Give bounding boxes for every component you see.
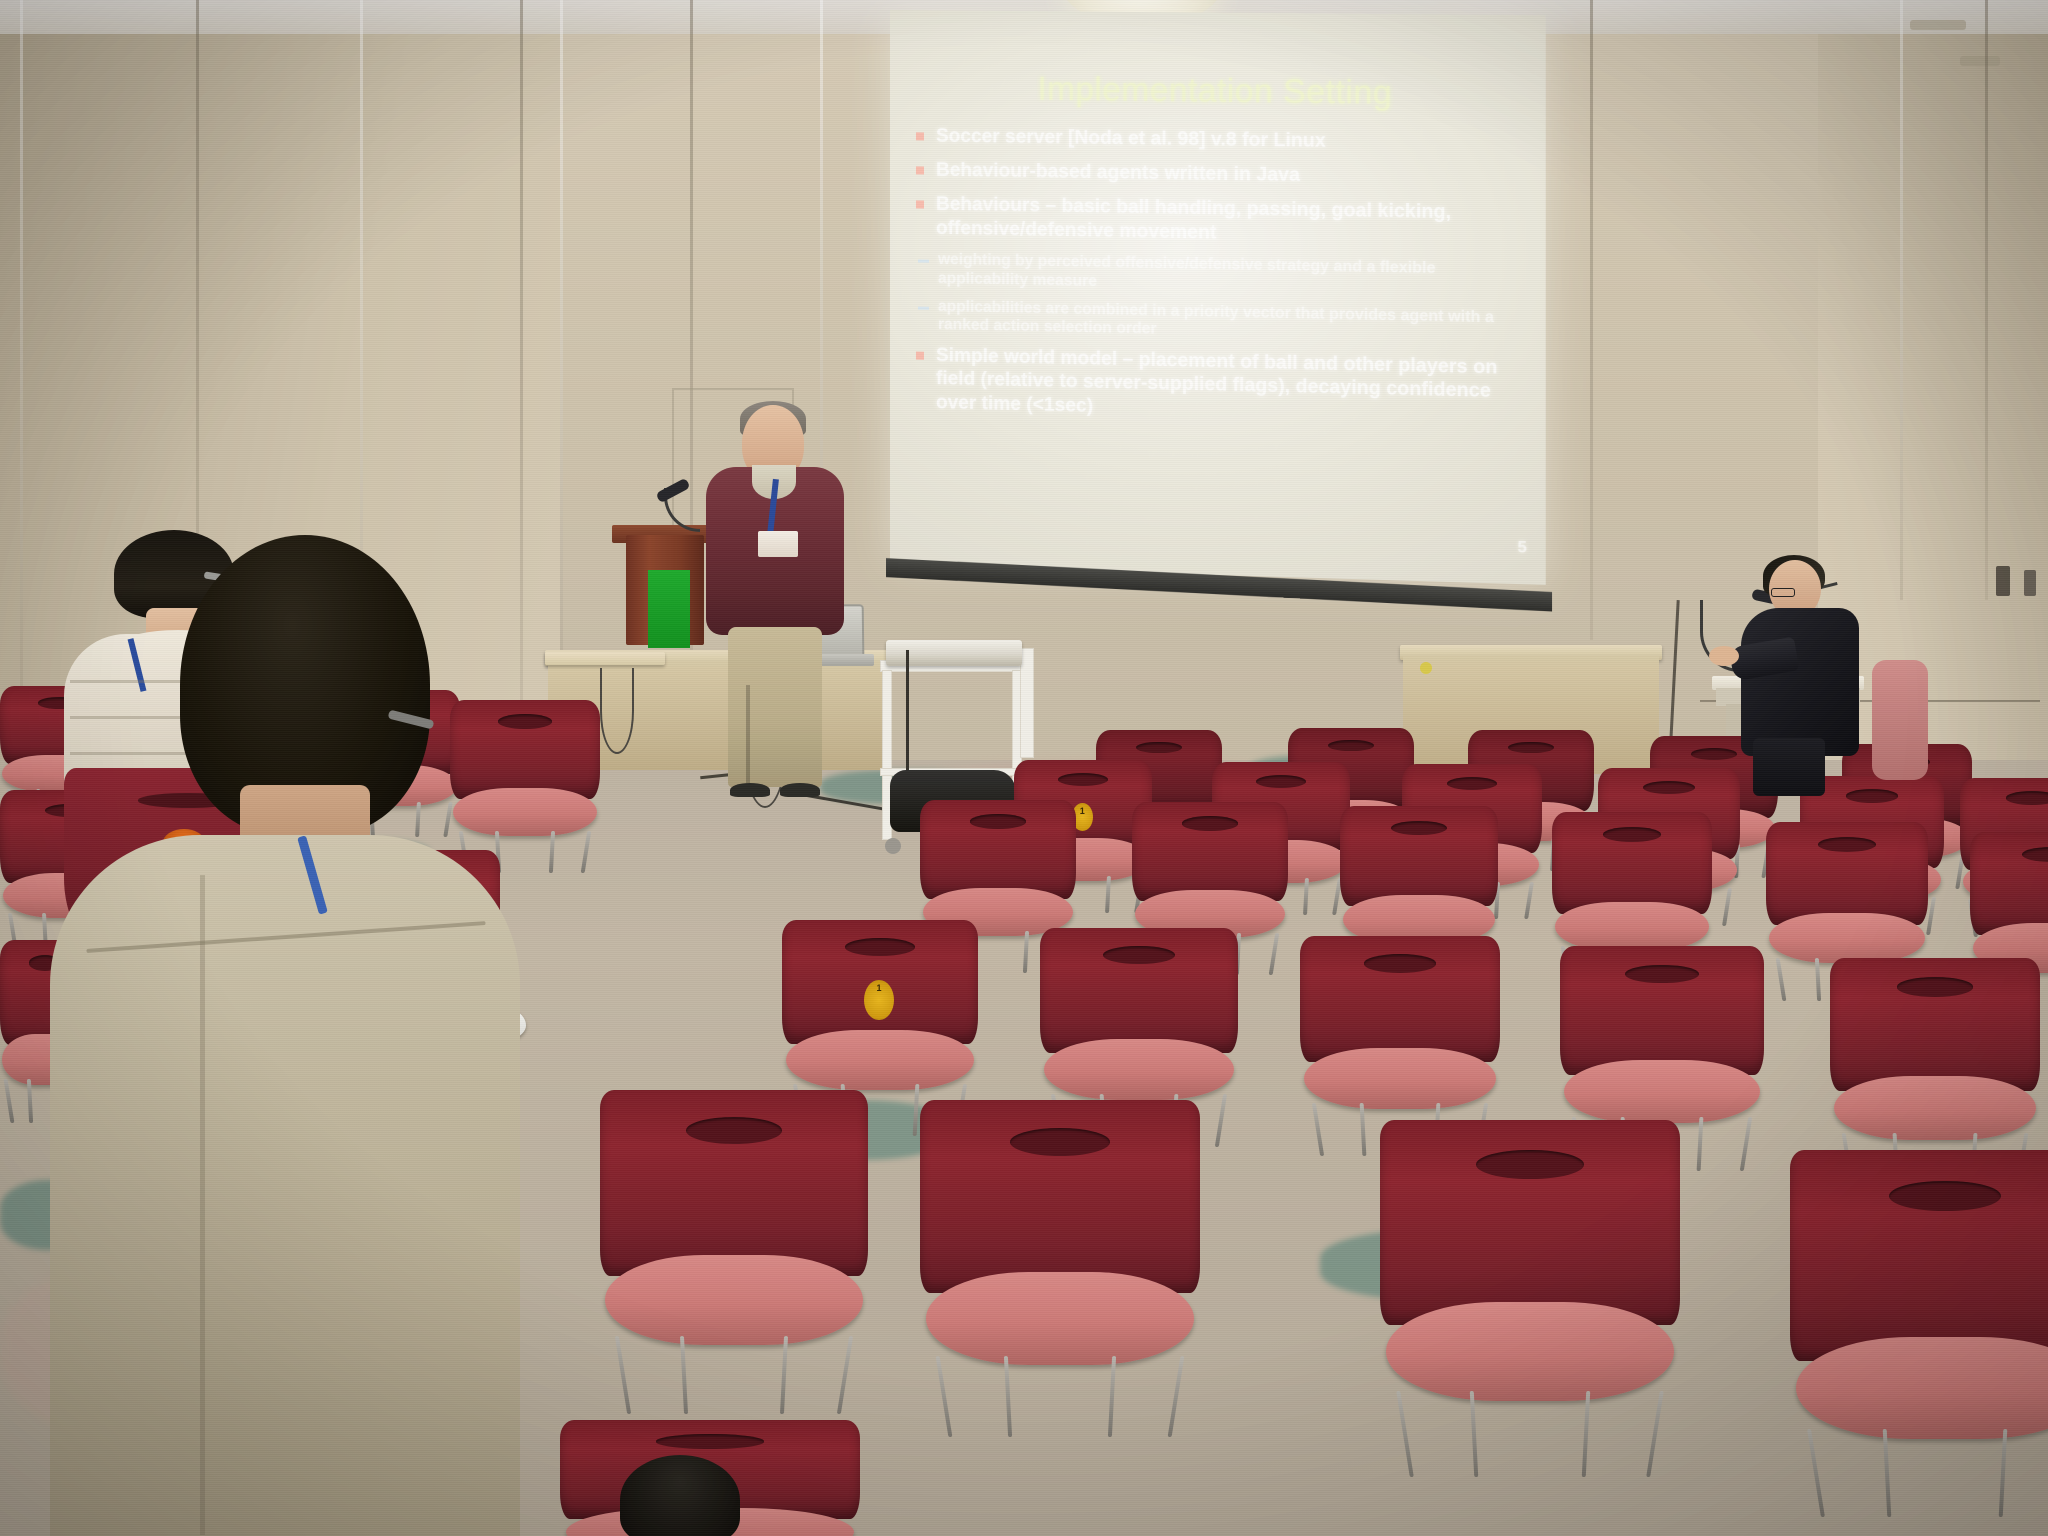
slide-title: Implementation Setting xyxy=(914,68,1521,113)
wall-panel-seam xyxy=(1590,0,1593,640)
presenter-table-top xyxy=(545,652,665,665)
presenter-shoe xyxy=(730,783,770,797)
glasses-icon xyxy=(1771,588,1795,597)
chairperson-person xyxy=(1735,560,1865,760)
chair[interactable] xyxy=(600,1090,868,1390)
slide-sub-bullet: weighting by perceived offensive/defensi… xyxy=(914,250,1521,300)
wall-fitting xyxy=(2024,570,2036,596)
table-sticker xyxy=(1420,662,1432,674)
slide-sub-bullet-list: weighting by perceived offensive/defensi… xyxy=(914,250,1521,348)
chair[interactable] xyxy=(1872,660,1928,780)
av-cart-caster xyxy=(885,838,901,854)
wall-panel-seam xyxy=(1985,0,1988,600)
wall-panel-seam xyxy=(20,0,23,700)
presenter-person xyxy=(700,405,850,805)
presenter-shoe xyxy=(780,783,820,797)
foreground-jacket xyxy=(50,835,520,1536)
podium-front-panel xyxy=(648,570,690,648)
presenter-trousers xyxy=(728,627,822,787)
chair[interactable] xyxy=(1380,1120,1680,1450)
chair[interactable] xyxy=(1300,936,1500,1140)
slide-bullet: Behaviour-based agents written in Java xyxy=(914,159,1521,191)
chairperson-suit xyxy=(1741,608,1859,756)
slide-bullet-list: Soccer server [Noda et al. 98] v.8 for L… xyxy=(914,124,1521,428)
slide-bullet: Simple world model – placement of ball a… xyxy=(914,344,1521,428)
slide-page-number: 5 xyxy=(1517,539,1526,558)
wall-fitting xyxy=(1996,566,2010,596)
projection-screen: Implementation Setting Soccer server [No… xyxy=(890,10,1546,585)
wall-panel-seam xyxy=(520,0,523,716)
slide-sub-bullet: applicabilities are combined in a priori… xyxy=(914,297,1521,348)
av-cart-post xyxy=(1020,648,1034,758)
chair[interactable] xyxy=(920,1100,1200,1412)
ceiling-vent xyxy=(1910,20,1966,30)
chair[interactable] xyxy=(1790,1150,2048,1490)
slide-bullet: Soccer server [Noda et al. 98] v.8 for L… xyxy=(914,124,1521,155)
slide-bullet: Behaviours – basic ball handling, passin… xyxy=(914,193,1521,250)
cable xyxy=(906,650,909,770)
ceiling-vent xyxy=(1960,56,2000,66)
cable xyxy=(600,668,634,754)
chairperson-hand xyxy=(1709,646,1739,666)
chair-sticker: 1 xyxy=(864,980,893,1020)
presenter-badge xyxy=(758,531,798,557)
wall-panel-seam xyxy=(1900,0,1903,600)
foreground-object xyxy=(620,1455,740,1536)
chair[interactable] xyxy=(1830,958,2040,1172)
conference-room-photo: Implementation Setting Soccer server [No… xyxy=(0,0,2048,1536)
audience-member-foreground xyxy=(50,535,520,1536)
presentation-slide: Implementation Setting Soccer server [No… xyxy=(890,68,1546,564)
wall-panel-seam xyxy=(560,0,563,700)
chairperson-leg xyxy=(1753,738,1825,796)
